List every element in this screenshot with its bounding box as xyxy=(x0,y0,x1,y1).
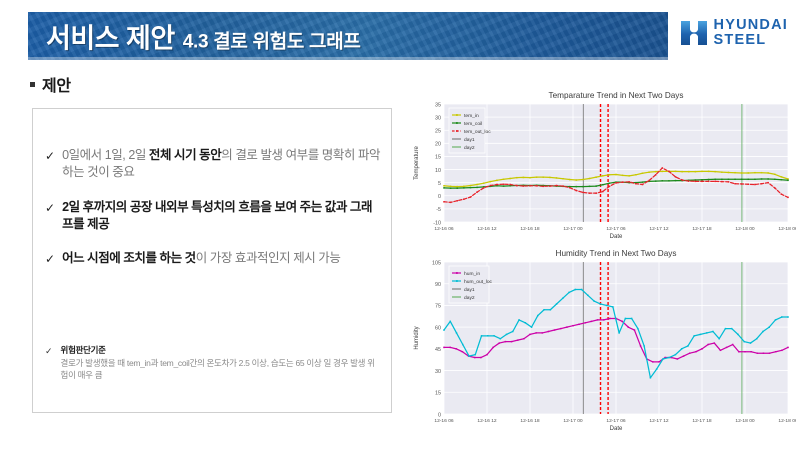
svg-text:30: 30 xyxy=(435,115,441,121)
svg-text:Temperature: Temperature xyxy=(414,145,420,179)
note-title: 위험판단기준 xyxy=(61,344,377,356)
svg-text:Humidity: Humidity xyxy=(414,326,420,349)
section-title: 제안 xyxy=(30,72,71,96)
svg-text:12-18 00: 12-18 00 xyxy=(735,418,755,424)
svg-text:day1: day1 xyxy=(464,137,475,143)
svg-text:-10: -10 xyxy=(433,220,441,226)
svg-text:105: 105 xyxy=(432,260,441,266)
svg-text:day1: day1 xyxy=(464,287,475,293)
h-mark-icon xyxy=(679,18,709,48)
check-icon: ✓ xyxy=(45,250,55,267)
svg-text:12-18 00: 12-18 00 xyxy=(735,226,755,232)
svg-text:12-18 06: 12-18 06 xyxy=(778,226,796,232)
svg-text:12-17 18: 12-17 18 xyxy=(692,226,712,232)
svg-text:12-18 06: 12-18 06 xyxy=(778,418,796,424)
proposal-content-box: ✓ 0일에서 1일, 2일 전체 시기 동안의 결로 발생 여부를 명확히 파악… xyxy=(32,108,392,413)
svg-text:12-16 18: 12-16 18 xyxy=(520,418,540,424)
svg-text:12-17 06: 12-17 06 xyxy=(606,418,626,424)
bullet-list: ✓ 0일에서 1일, 2일 전체 시기 동안의 결로 발생 여부를 명확히 파악… xyxy=(45,147,381,284)
svg-text:25: 25 xyxy=(435,129,441,135)
logo-line-1: HYUNDAI xyxy=(714,18,788,33)
svg-text:12-17 12: 12-17 12 xyxy=(649,418,669,424)
svg-text:5: 5 xyxy=(438,181,441,187)
temperature-trend-chart: Temparature Trend in Next Two Days-10-50… xyxy=(408,88,796,246)
svg-text:60: 60 xyxy=(435,325,441,331)
list-item: ✓ 2일 후까지의 공장 내외부 특성치의 흐름을 보여 주는 값과 그래프를 … xyxy=(45,199,381,234)
svg-text:75: 75 xyxy=(435,304,441,310)
section-title-text: 제안 xyxy=(42,72,71,96)
svg-text:0: 0 xyxy=(438,194,441,200)
header-band: 서비스 제안4.3 결로 위험도 그래프 xyxy=(28,12,668,60)
svg-text:day2: day2 xyxy=(464,145,475,151)
svg-text:hum_out_loc: hum_out_loc xyxy=(464,279,493,285)
svg-text:0: 0 xyxy=(438,412,441,418)
svg-text:tem_coil: tem_coil xyxy=(464,121,482,127)
header-text: 서비스 제안4.3 결로 위험도 그래프 xyxy=(46,17,361,56)
svg-text:12-17 00: 12-17 00 xyxy=(563,418,583,424)
risk-criteria-note: ✓ 위험판단기준 결로가 발생했을 때 tem_in과 tem_coil간의 온… xyxy=(45,344,377,383)
svg-text:12-16 12: 12-16 12 xyxy=(477,226,497,232)
svg-text:tem_in: tem_in xyxy=(464,113,479,119)
svg-text:hum_in: hum_in xyxy=(464,271,480,277)
check-icon: ✓ xyxy=(45,199,55,234)
svg-text:90: 90 xyxy=(435,282,441,288)
note-text: 결로가 발생했을 때 tem_in과 tem_coil간의 온도차가 2.5 이… xyxy=(61,357,377,383)
bullet-text-3: 어느 시점에 조치를 하는 것이 가장 효과적인지 제시 가능 xyxy=(62,250,340,267)
note-body-wrap: 위험판단기준 결로가 발생했을 때 tem_in과 tem_coil간의 온도차… xyxy=(61,344,377,383)
svg-text:Date: Date xyxy=(610,426,623,432)
svg-text:30: 30 xyxy=(435,369,441,375)
header-main-title: 서비스 제안 xyxy=(46,24,175,54)
svg-text:12-16 06: 12-16 06 xyxy=(434,226,454,232)
svg-text:12-16 18: 12-16 18 xyxy=(520,226,540,232)
svg-text:tem_out_loc: tem_out_loc xyxy=(464,129,491,135)
svg-text:35: 35 xyxy=(435,102,441,108)
check-icon: ✓ xyxy=(45,147,55,182)
bullet-text-2: 2일 후까지의 공장 내외부 특성치의 흐름을 보여 주는 값과 그래프를 제공 xyxy=(62,199,381,234)
header-sub-title: 4.3 결로 위험도 그래프 xyxy=(183,32,361,53)
humidity-trend-chart: Humidity Trend in Next Two Days015304560… xyxy=(408,246,796,440)
svg-text:15: 15 xyxy=(435,391,441,397)
logo-wordmark: HYUNDAI STEEL xyxy=(714,18,788,48)
svg-text:12-17 06: 12-17 06 xyxy=(606,226,626,232)
svg-text:12-17 18: 12-17 18 xyxy=(692,418,712,424)
svg-text:12-17 00: 12-17 00 xyxy=(563,226,583,232)
slide: 서비스 제안4.3 결로 위험도 그래프 HYUNDAI STEEL 제안 xyxy=(0,0,800,450)
svg-text:Temparature Trend in Next Two: Temparature Trend in Next Two Days xyxy=(549,91,684,100)
svg-text:12-16 06: 12-16 06 xyxy=(434,418,454,424)
svg-text:day2: day2 xyxy=(464,295,475,301)
logo-line-2: STEEL xyxy=(714,33,788,48)
list-item: ✓ 어느 시점에 조치를 하는 것이 가장 효과적인지 제시 가능 xyxy=(45,250,381,267)
svg-text:12-16 12: 12-16 12 xyxy=(477,418,497,424)
svg-text:45: 45 xyxy=(435,347,441,353)
list-item: ✓ 0일에서 1일, 2일 전체 시기 동안의 결로 발생 여부를 명확히 파악… xyxy=(45,147,381,182)
svg-text:12-17 12: 12-17 12 xyxy=(649,226,669,232)
svg-text:Date: Date xyxy=(610,234,623,240)
svg-text:10: 10 xyxy=(435,168,441,174)
svg-text:-5: -5 xyxy=(436,207,441,213)
check-icon: ✓ xyxy=(45,344,53,383)
hyundai-steel-logo: HYUNDAI STEEL xyxy=(679,18,788,48)
square-bullet-icon xyxy=(30,82,35,87)
bullet-text-1: 0일에서 1일, 2일 전체 시기 동안의 결로 발생 여부를 명확히 파악하는… xyxy=(62,147,381,182)
svg-text:20: 20 xyxy=(435,142,441,148)
svg-text:15: 15 xyxy=(435,155,441,161)
svg-text:Humidity Trend in Next Two Day: Humidity Trend in Next Two Days xyxy=(556,249,677,258)
